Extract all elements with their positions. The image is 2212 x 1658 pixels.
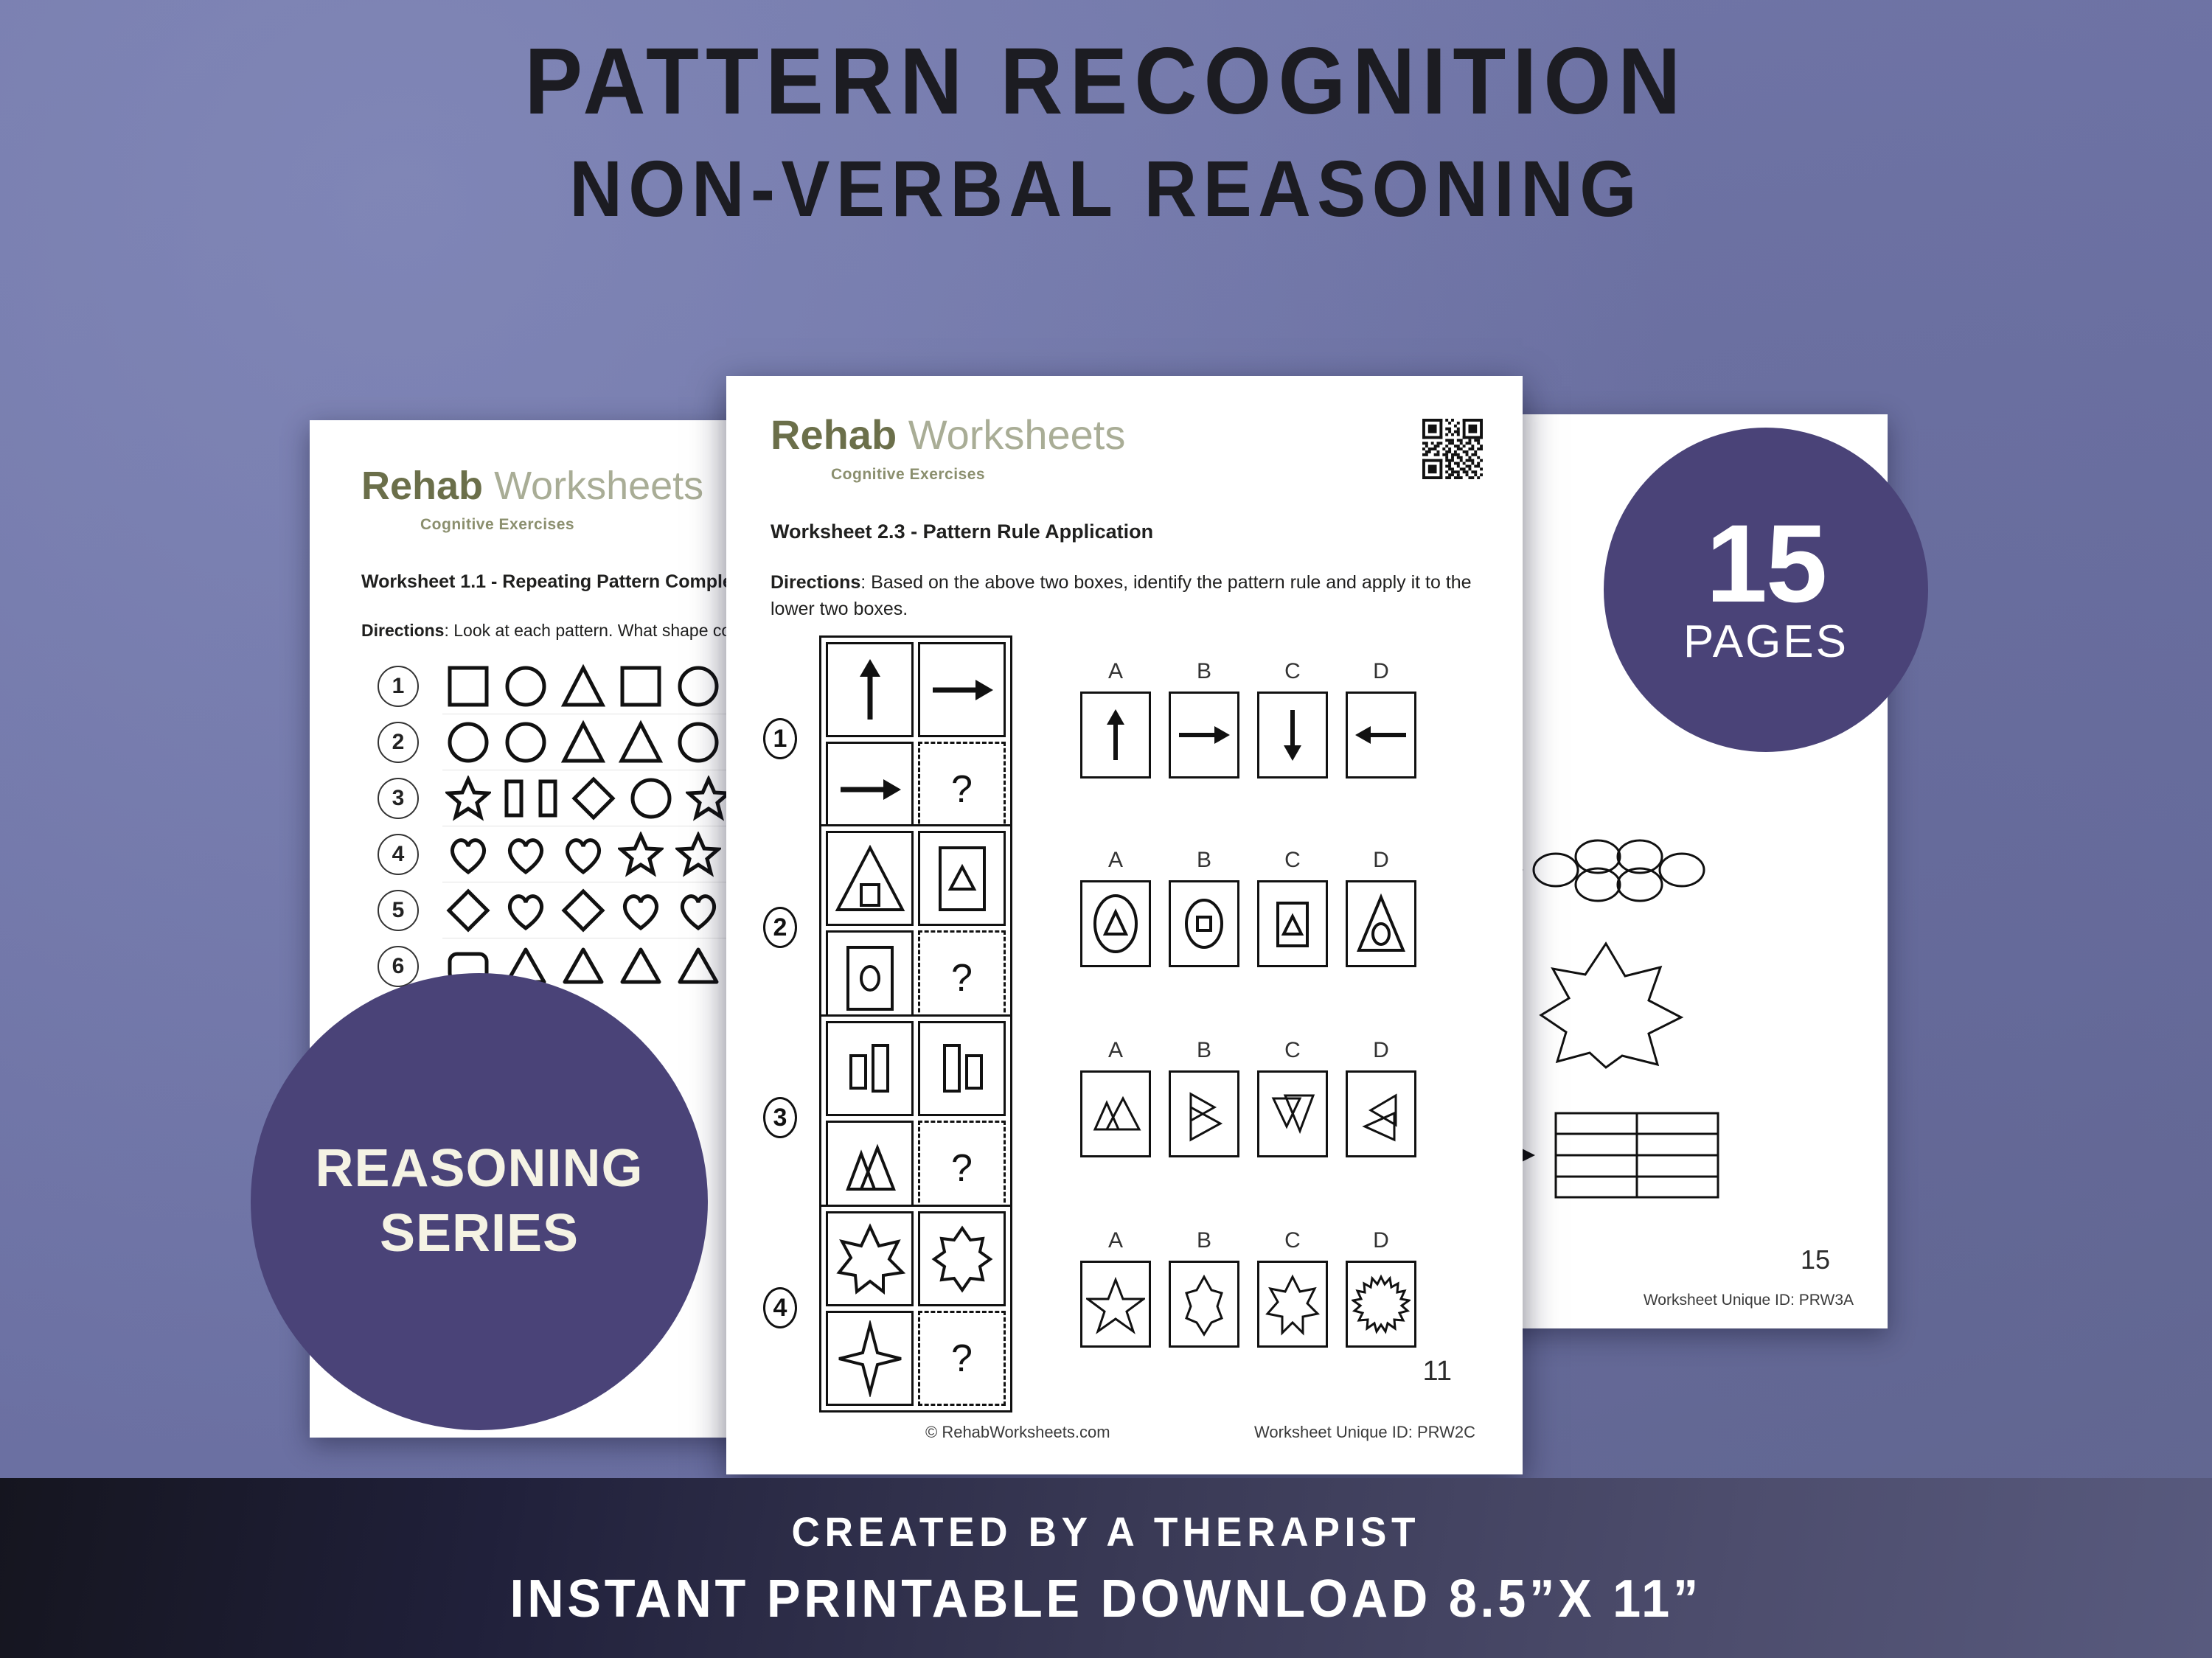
option-b[interactable]: B: [1169, 659, 1239, 779]
star-icon: [445, 776, 491, 821]
bottom-banner: CREATED BY A THERAPIST INSTANT PRINTABLE…: [0, 1478, 2212, 1658]
matrix-cell: [826, 831, 914, 926]
star-8-blunt-icon: [924, 1221, 1001, 1298]
diamond-icon: [560, 888, 606, 933]
row-shapes: [445, 776, 731, 821]
option-a[interactable]: A: [1080, 848, 1151, 967]
row-index: 4: [378, 834, 419, 875]
problem-options[interactable]: A B C: [1080, 1038, 1416, 1157]
problem-index: 1: [763, 718, 797, 759]
triangle-icon: [618, 720, 664, 765]
option-label: D: [1346, 1038, 1416, 1063]
heart-icon: [445, 832, 491, 877]
option-label: D: [1346, 659, 1416, 684]
option-box[interactable]: [1080, 880, 1151, 967]
pages-badge-label: PAGES: [1683, 616, 1848, 668]
banner-line-2: INSTANT PRINTABLE DOWNLOAD 8.5”X 11”: [510, 1569, 1702, 1629]
list-item[interactable]: 3: [378, 771, 731, 826]
star-icon: [618, 832, 664, 877]
triangle-with-circle-icon: [1353, 888, 1409, 959]
option-label: A: [1080, 659, 1151, 684]
square-icon: [445, 663, 491, 709]
arrow-up-icon: [1099, 706, 1132, 764]
matrix-cell: [918, 642, 1006, 737]
worksheet-main-title: Worksheet 2.3 - Pattern Rule Application: [771, 520, 1153, 543]
option-c[interactable]: C: [1257, 1038, 1328, 1157]
list-item[interactable]: 1: [378, 659, 779, 714]
problem-index: 3: [763, 1097, 797, 1138]
matrix-cell: [918, 1021, 1006, 1116]
option-label: A: [1080, 1038, 1151, 1063]
option-c[interactable]: C: [1257, 1228, 1328, 1348]
option-label: B: [1169, 659, 1239, 684]
worksheet-main-footer-copyright: © RehabWorksheets.com: [925, 1423, 1110, 1442]
option-box[interactable]: [1169, 1261, 1239, 1348]
poster-canvas: PATTERN RECOGNITION NON-VERBAL REASONING…: [0, 0, 2212, 1658]
matrix-cell-unknown[interactable]: ?: [918, 1311, 1006, 1406]
circle-icon: [503, 663, 549, 709]
option-box[interactable]: [1169, 880, 1239, 967]
row-index: 1: [378, 666, 419, 707]
arrow-down-icon: [1276, 706, 1309, 764]
matrix-cell: [826, 742, 914, 837]
problem-matrix[interactable]: ?: [819, 824, 1012, 1032]
option-box[interactable]: [1257, 1261, 1328, 1348]
option-label: B: [1169, 1038, 1239, 1063]
matrix-cell: [918, 1211, 1006, 1306]
problem-options[interactable]: A B C: [1080, 848, 1416, 967]
two-bars-mirrored-icon: [924, 1031, 1001, 1107]
matrix-cell: [826, 1021, 914, 1116]
option-label: C: [1257, 848, 1328, 873]
two-triangles-inverted-icon: [1263, 1081, 1322, 1147]
option-a[interactable]: A: [1080, 1228, 1151, 1348]
option-label: C: [1257, 659, 1328, 684]
matrix-cell: [826, 1121, 914, 1216]
pages-badge: 15 PAGES: [1604, 428, 1928, 752]
matrix-cell: [826, 1211, 914, 1306]
star-5-icon: [1086, 1271, 1145, 1337]
triangle-icon: [618, 944, 664, 989]
option-box[interactable]: [1346, 1070, 1416, 1157]
series-badge: REASONING SERIES: [251, 973, 708, 1430]
option-box[interactable]: [1257, 880, 1328, 967]
worksheet-main[interactable]: Rehab Worksheets Cognitive Exercises: [726, 376, 1523, 1474]
brand-name-bold: Rehab: [771, 411, 897, 458]
problem-matrix[interactable]: ?: [819, 1014, 1012, 1222]
matrix-cell-unknown[interactable]: ?: [918, 930, 1006, 1025]
star-icon: [675, 832, 721, 877]
star-icon: [686, 776, 731, 821]
brand-logo-main: Rehab Worksheets Cognitive Exercises: [771, 414, 1125, 484]
circle-with-triangle-icon: [1088, 888, 1144, 959]
directions-text: : Based on the above two boxes, identify…: [771, 572, 1472, 619]
problem-options[interactable]: A B C: [1080, 1228, 1416, 1348]
list-item[interactable]: 4: [378, 827, 779, 882]
arrow-up-icon: [848, 655, 892, 725]
option-label: B: [1169, 1228, 1239, 1253]
option-box[interactable]: [1080, 1070, 1151, 1157]
matrix-cell: [826, 1311, 914, 1406]
matrix-cell: [826, 930, 914, 1025]
problem-matrix[interactable]: ?: [819, 635, 1012, 843]
list-item[interactable]: 5: [378, 883, 779, 938]
triangle-icon: [560, 663, 606, 709]
row-index: 5: [378, 890, 419, 931]
option-label: A: [1080, 848, 1151, 873]
two-bars-icon: [832, 1031, 908, 1107]
directions-label: Directions: [361, 621, 444, 640]
option-b[interactable]: B: [1169, 1038, 1239, 1157]
brand-name-light: Worksheets: [494, 464, 703, 508]
circle-icon: [628, 776, 674, 821]
option-d[interactable]: D: [1346, 659, 1416, 779]
two-triangles-rotated-right-icon: [1175, 1081, 1234, 1147]
heart-icon: [675, 888, 721, 933]
option-c[interactable]: C: [1257, 659, 1328, 779]
series-badge-line1: REASONING: [315, 1137, 643, 1202]
star-6-blunt-icon: [1175, 1271, 1234, 1337]
list-item[interactable]: 2: [378, 715, 779, 770]
option-label: A: [1080, 1228, 1151, 1253]
triangle-icon: [560, 944, 606, 989]
option-d[interactable]: D: [1346, 1038, 1416, 1157]
option-label: C: [1257, 1228, 1328, 1253]
matrix-cell-unknown[interactable]: ?: [918, 742, 1006, 837]
series-badge-line2: SERIES: [380, 1202, 579, 1267]
rect-with-triangle-icon: [1265, 888, 1321, 959]
option-c[interactable]: C: [1257, 848, 1328, 967]
star-burst-icon: [1352, 1271, 1411, 1337]
option-box[interactable]: [1169, 692, 1239, 779]
hero-title-block: PATTERN RECOGNITION NON-VERBAL REASONING: [0, 32, 2212, 234]
circle-icon: [675, 720, 721, 765]
matrix-cell-unknown[interactable]: ?: [918, 1121, 1006, 1216]
option-box[interactable]: [1346, 692, 1416, 779]
problem-index: 2: [763, 907, 797, 948]
option-box[interactable]: [1169, 1070, 1239, 1157]
worksheet-main-directions: Directions: Based on the above two boxes…: [771, 569, 1478, 623]
two-triangles-rotated-left-icon: [1352, 1081, 1411, 1147]
rect-with-triangle-icon: [924, 840, 1001, 917]
problem-matrix[interactable]: ?: [819, 1205, 1012, 1413]
brand-name-light: Worksheets: [908, 411, 1126, 458]
option-box[interactable]: [1346, 1261, 1416, 1348]
star-7-icon: [832, 1221, 908, 1298]
option-b[interactable]: B: [1169, 1228, 1239, 1348]
triangle-with-square-icon: [832, 840, 908, 917]
problem-options[interactable]: A B C D: [1080, 659, 1416, 779]
square-icon: [618, 663, 664, 709]
triangle-icon: [675, 944, 721, 989]
brand-logo-left: Rehab Worksheets Cognitive Exercises: [361, 466, 703, 534]
problem-index: 4: [763, 1287, 797, 1328]
circle-icon: [675, 663, 721, 709]
option-label: C: [1257, 1038, 1328, 1063]
option-box[interactable]: [1080, 1261, 1151, 1348]
option-box[interactable]: [1257, 1070, 1328, 1157]
circle-with-square-icon: [1176, 888, 1232, 959]
option-box[interactable]: [1257, 692, 1328, 779]
option-a[interactable]: A: [1080, 659, 1151, 779]
option-b[interactable]: B: [1169, 848, 1239, 967]
brand-tagline: Cognitive Exercises: [420, 516, 703, 534]
arrow-right-icon: [1175, 719, 1234, 751]
option-label: D: [1346, 848, 1416, 873]
arrow-left-icon: [1352, 719, 1411, 751]
rectangle-icon: [503, 776, 525, 821]
row-index: 2: [378, 722, 419, 763]
heart-icon: [560, 832, 606, 877]
arrow-right-icon: [835, 767, 905, 812]
row-index: 6: [378, 946, 419, 987]
matrix-cell: [826, 642, 914, 737]
circle-icon: [503, 720, 549, 765]
worksheet-main-page-number: 11: [1423, 1356, 1452, 1387]
triangle-icon: [560, 720, 606, 765]
rectangle-icon: [537, 776, 559, 821]
page-title: PATTERN RECOGNITION: [88, 32, 2124, 131]
brand-tagline: Cognitive Exercises: [831, 466, 1125, 484]
option-label: B: [1169, 848, 1239, 873]
star-4-sharp-icon: [832, 1320, 908, 1397]
option-box[interactable]: [1346, 880, 1416, 967]
diamond-icon: [445, 888, 491, 933]
option-a[interactable]: A: [1080, 1038, 1151, 1157]
rect-with-circle-icon: [832, 940, 908, 1017]
qr-code-icon[interactable]: [1422, 419, 1483, 479]
option-d[interactable]: D: [1346, 848, 1416, 967]
circle-icon: [445, 720, 491, 765]
brand-name-bold: Rehab: [361, 464, 483, 508]
banner-line-1: CREATED BY A THERAPIST: [792, 1508, 1421, 1556]
worksheet-right-page-number: 15: [1801, 1244, 1830, 1275]
matrix-cell: [918, 831, 1006, 926]
two-triangles-icon: [832, 1130, 908, 1207]
arrow-right-icon: [927, 668, 998, 712]
option-label: D: [1346, 1228, 1416, 1253]
option-d[interactable]: D: [1346, 1228, 1416, 1348]
option-box[interactable]: [1080, 692, 1151, 779]
worksheet-main-footer-id: Worksheet Unique ID: PRW2C: [1254, 1423, 1475, 1442]
worksheet-right-footer-id: Worksheet Unique ID: PRW3A: [1644, 1292, 1854, 1309]
pages-badge-number: 15: [1706, 512, 1826, 614]
two-triangles-wide-icon: [1086, 1081, 1145, 1147]
page-subtitle: NON-VERBAL REASONING: [88, 144, 2124, 234]
heart-icon: [503, 832, 549, 877]
heart-icon: [618, 888, 664, 933]
heart-icon: [503, 888, 549, 933]
star-6-icon: [1263, 1271, 1322, 1337]
diamond-icon: [571, 776, 616, 821]
directions-label: Directions: [771, 572, 860, 593]
row-index: 3: [378, 778, 419, 819]
